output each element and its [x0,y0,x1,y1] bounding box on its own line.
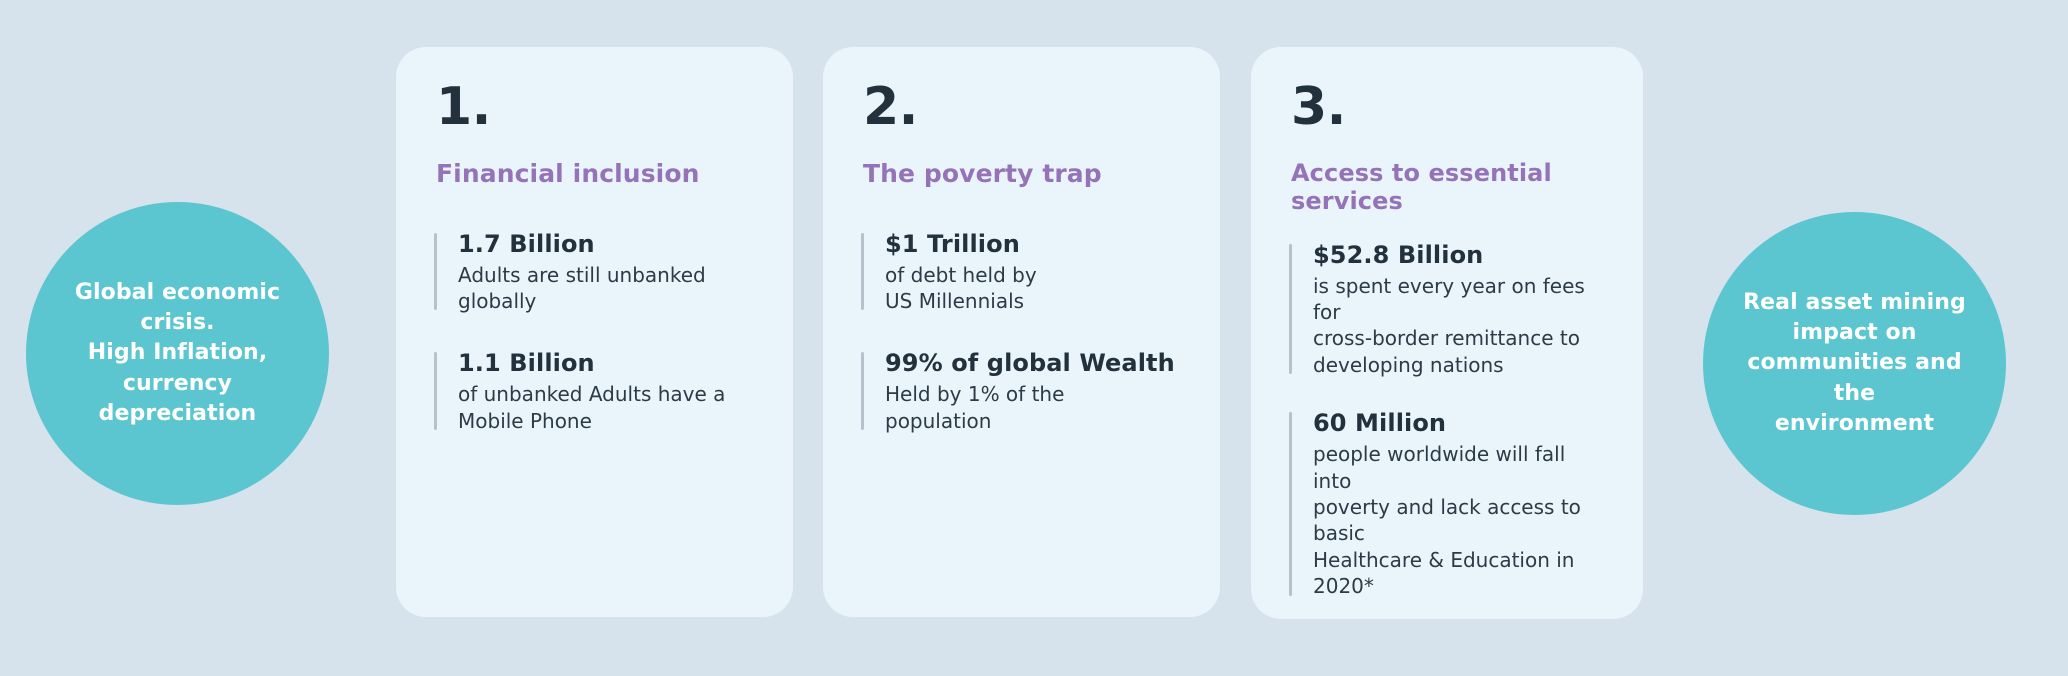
infographic-canvas: Global economic crisis. High Inflation, … [0,0,2068,676]
stat-item: $1 Trillion of debt held by US Millennia… [861,229,1182,315]
right-context-circle-text: Real asset mining impact on communities … [1723,288,1986,440]
stat-description: of debt held by US Millennials [885,262,1182,315]
stat-rule-line [1289,244,1292,375]
stat-rule-line [861,352,864,430]
card-1-title: Financial inclusion [436,159,755,189]
card-2-stat-list: $1 Trillion of debt held by US Millennia… [861,229,1182,435]
stat-description: of unbanked Adults have a Mobile Phone [458,381,755,434]
card-2-title: The poverty trap [863,159,1182,189]
card-1-stat-list: 1.7 Billion Adults are still unbanked gl… [434,229,755,435]
stat-value: 60 Million [1313,408,1605,438]
stat-description: people worldwide will fall into poverty … [1313,441,1605,599]
stat-rule-line [1289,412,1292,595]
stat-value: 1.7 Billion [458,229,755,259]
stat-item: 1.7 Billion Adults are still unbanked gl… [434,229,755,315]
left-context-circle: Global economic crisis. High Inflation, … [26,202,329,505]
stat-item: 1.1 Billion of unbanked Adults have a Mo… [434,348,755,434]
card-2-number: 2. [863,81,1182,133]
stat-value: 99% of global Wealth [885,348,1182,378]
card-3-stat-list: $52.8 Billion is spent every year on fee… [1289,240,1605,600]
stat-description: is spent every year on fees for cross-bo… [1313,273,1605,379]
stat-item: $52.8 Billion is spent every year on fee… [1289,240,1605,379]
stat-value: $52.8 Billion [1313,240,1605,270]
stat-rule-line [434,352,437,430]
stat-description: Held by 1% of the population [885,381,1182,434]
card-3-number: 3. [1291,81,1605,133]
stat-rule-line [861,233,864,311]
left-context-circle-text: Global economic crisis. High Inflation, … [60,278,295,430]
stat-item: 60 Million people worldwide will fall in… [1289,408,1605,599]
stat-value: 1.1 Billion [458,348,755,378]
stat-item: 99% of global Wealth Held by 1% of the p… [861,348,1182,434]
card-1-number: 1. [436,81,755,133]
card-3-title: Access to essential services [1291,159,1605,216]
stat-description: Adults are still unbanked globally [458,262,755,315]
stat-value: $1 Trillion [885,229,1182,259]
stat-card-2: 2. The poverty trap $1 Trillion of debt … [823,47,1220,617]
stat-card-1: 1. Financial inclusion 1.7 Billion Adult… [396,47,793,617]
right-context-circle: Real asset mining impact on communities … [1703,212,2006,515]
stat-card-3: 3. Access to essential services $52.8 Bi… [1251,47,1643,619]
stat-rule-line [434,233,437,311]
